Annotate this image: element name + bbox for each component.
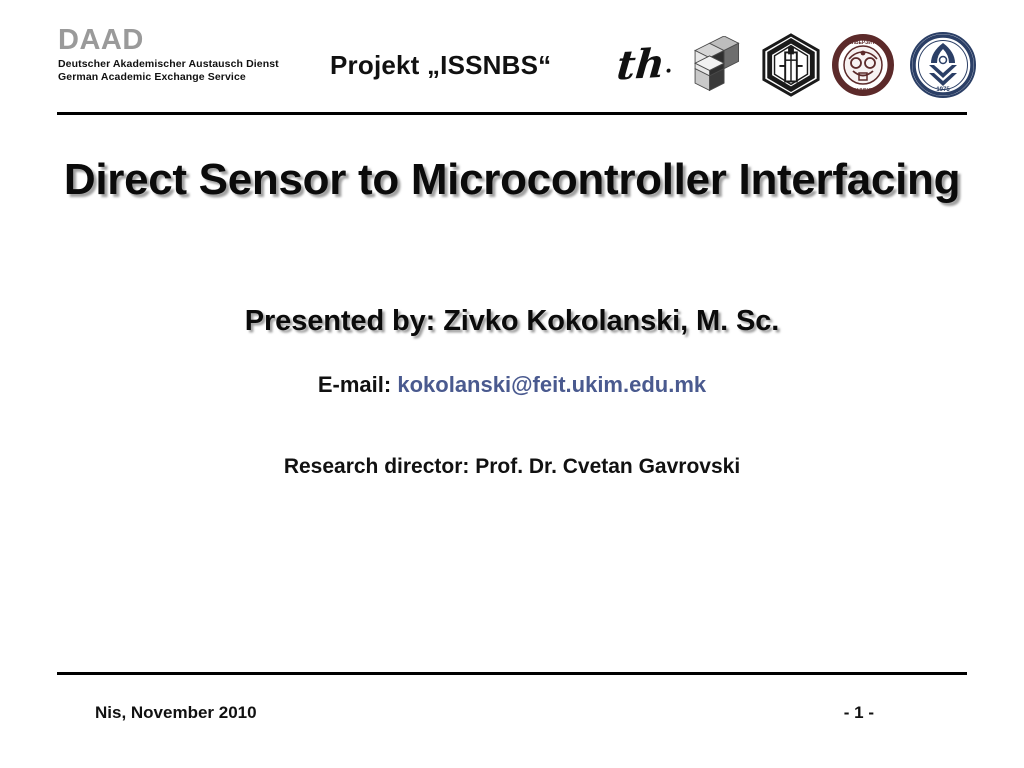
footer-divider-rule xyxy=(57,672,967,675)
svg-text:1975: 1975 xyxy=(936,87,950,93)
footer-location-date: Nis, November 2010 xyxy=(95,703,257,723)
email-label: E-mail: xyxy=(318,372,391,397)
daad-subtitle-english: German Academic Exchange Service xyxy=(58,71,318,84)
email-address-link[interactable]: kokolanski@feit.ukim.edu.mk xyxy=(397,372,706,397)
th-dot-icon xyxy=(666,69,670,73)
page-title: Direct Sensor to Microcontroller Interfa… xyxy=(0,150,1024,211)
university-of-banja-luka-seal-icon: 1975 xyxy=(909,31,977,99)
daad-logo: DAAD Deutscher Akademischer Austausch Di… xyxy=(58,26,318,84)
footer-page-number: - 1 - xyxy=(844,703,874,723)
isometric-cube-logo xyxy=(682,28,748,102)
university-of-banja-luka-seal: 1975 xyxy=(904,28,982,102)
presenter-line: Presented by: Zivko Kokolanski, M. Sc. xyxy=(0,305,1024,338)
university-of-nis-seal: УНИВЕРЗИТЕТ У НИШУ xyxy=(826,28,900,102)
slide-header: DAAD Deutscher Akademischer Austausch Di… xyxy=(0,0,1024,112)
project-title: Projekt „ISSNBS“ xyxy=(330,50,551,81)
isometric-cube-icon xyxy=(686,36,744,94)
header-logo-strip: th xyxy=(612,28,982,104)
university-of-nis-seal-icon: УНИВЕРЗИТЕТ У НИШУ xyxy=(831,33,895,97)
th-script-logo: th xyxy=(612,28,676,102)
header-divider-rule xyxy=(57,112,967,115)
email-line: E-mail: kokolanski@feit.ukim.edu.mk xyxy=(0,372,1024,398)
th-script-glyph: th xyxy=(615,44,672,87)
slide-footer: Nis, November 2010 - 1 - xyxy=(57,703,967,723)
research-director-line: Research director: Prof. Dr. Cvetan Gavr… xyxy=(0,455,1024,479)
svg-text:У НИШУ: У НИШУ xyxy=(852,88,874,94)
svg-text:УНИВЕРЗИТЕТ: УНИВЕРЗИТЕТ xyxy=(845,40,882,46)
daad-subtitle-german: Deutscher Akademischer Austausch Dienst xyxy=(58,58,318,71)
slide-body: Direct Sensor to Microcontroller Interfa… xyxy=(0,150,1024,479)
daad-wordmark: DAAD xyxy=(58,26,318,55)
hexagonal-seal-icon xyxy=(760,33,822,97)
hexagonal-seal-logo xyxy=(756,28,826,102)
